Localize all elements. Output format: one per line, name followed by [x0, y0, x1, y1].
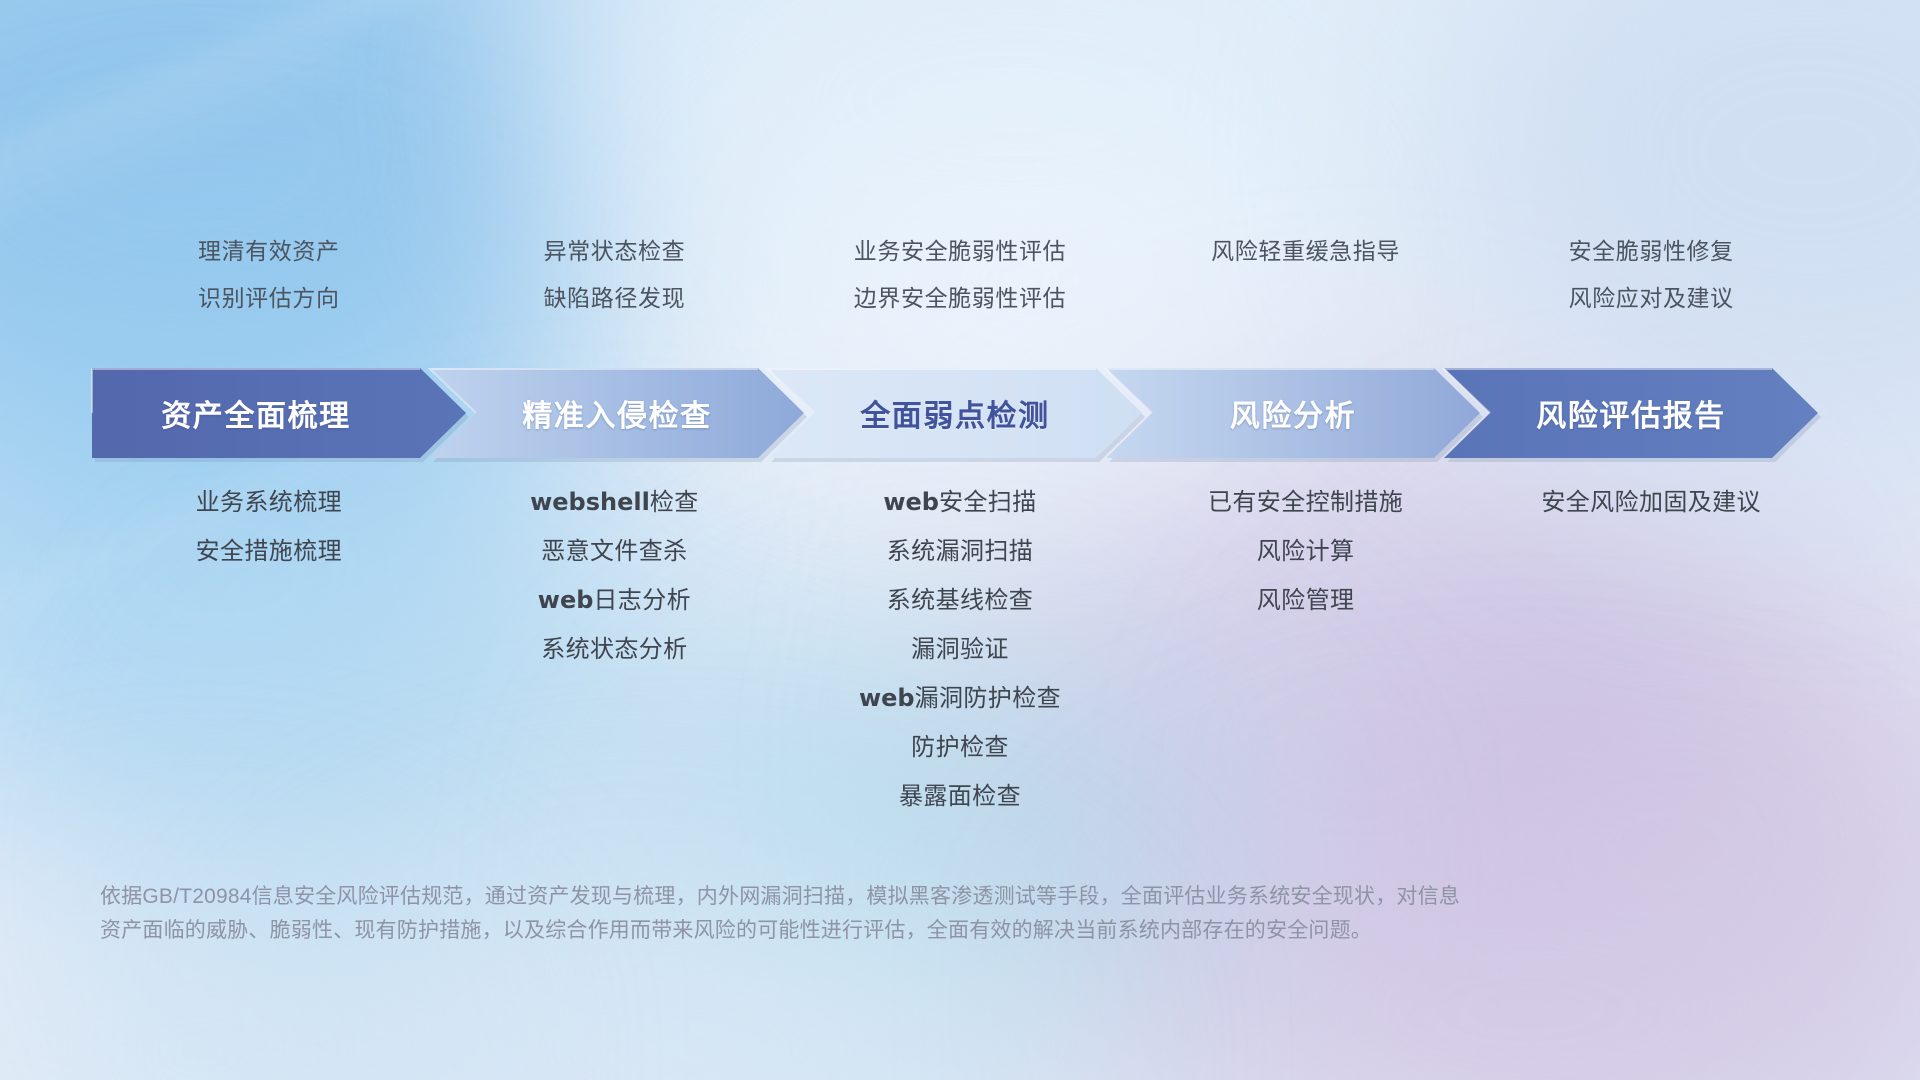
note-text-fragment: 风险管理: [1257, 587, 1355, 614]
stage-top-notes-asset-inventory: 理清有效资产识别评估方向: [96, 228, 442, 322]
note-line: 风险轻重缓急指导: [1133, 228, 1479, 275]
note-line: 安全脆弱性修复: [1478, 228, 1824, 275]
stage-bottom-notes-weakness-detection: web安全扫描系统漏洞扫描系统基线检查漏洞验证web漏洞防护检查防护检查暴露面检…: [787, 478, 1133, 821]
note-line: 安全风险加固及建议: [1478, 478, 1824, 527]
footer-line-2: 资产面临的威胁、脆弱性、现有防护措施，以及综合作用而带来风险的可能性进行评估，全…: [100, 914, 1640, 948]
note-line: 业务安全脆弱性评估: [787, 228, 1133, 275]
note-line: 风险管理: [1133, 576, 1479, 625]
footer-description: 依据GB/T20984信息安全风险评估规范，通过资产发现与梳理，内外网漏洞扫描，…: [100, 880, 1640, 948]
note-line: 恶意文件查杀: [442, 527, 788, 576]
note-text-fragment: 检查: [650, 489, 699, 516]
slide-content: 理清有效资产识别评估方向异常状态检查缺陷路径发现业务安全脆弱性评估边界安全脆弱性…: [0, 0, 1920, 1080]
note-line: 异常状态检查: [442, 228, 788, 275]
note-latin-fragment: web: [883, 488, 939, 516]
arrow-label-asset-inventory[interactable]: 资产全面梳理: [92, 368, 420, 458]
footer-line-1: 依据GB/T20984信息安全风险评估规范，通过资产发现与梳理，内外网漏洞扫描，…: [100, 880, 1640, 914]
note-line: 识别评估方向: [96, 275, 442, 322]
note-line: webshell检查: [442, 478, 788, 527]
stage-top-notes-risk-analysis: 风险轻重缓急指导: [1133, 228, 1479, 275]
note-text-fragment: 系统基线检查: [887, 587, 1033, 614]
note-latin-fragment: web: [538, 586, 594, 614]
note-latin-fragment: web: [859, 684, 915, 712]
stage-bottom-notes-risk-analysis: 已有安全控制措施风险计算风险管理: [1133, 478, 1479, 625]
note-line: 边界安全脆弱性评估: [787, 275, 1133, 322]
arrow-label-intrusion-check[interactable]: 精准入侵检查: [453, 368, 781, 458]
note-text-fragment: 安全措施梳理: [196, 538, 342, 565]
note-line: 漏洞验证: [787, 625, 1133, 674]
note-text-fragment: 防护检查: [911, 734, 1009, 761]
note-text-fragment: 业务系统梳理: [196, 489, 342, 516]
note-line: 系统基线检查: [787, 576, 1133, 625]
note-line: 已有安全控制措施: [1133, 478, 1479, 527]
process-arrow-banner: 资产全面梳理精准入侵检查全面弱点检测风险分析风险评估报告: [92, 368, 1828, 458]
stage-top-notes-assessment-report: 安全脆弱性修复风险应对及建议: [1478, 228, 1824, 322]
slide-canvas: 理清有效资产识别评估方向异常状态检查缺陷路径发现业务安全脆弱性评估边界安全脆弱性…: [0, 0, 1920, 1080]
note-text-fragment: 安全扫描: [939, 489, 1037, 516]
note-text-fragment: 系统漏洞扫描: [887, 538, 1033, 565]
arrow-label-weakness-detection[interactable]: 全面弱点检测: [791, 368, 1119, 458]
note-line: 理清有效资产: [96, 228, 442, 275]
note-line: 安全措施梳理: [96, 527, 442, 576]
note-line: 业务系统梳理: [96, 478, 442, 527]
arrow-label-risk-analysis[interactable]: 风险分析: [1129, 368, 1457, 458]
stage-bottom-notes-assessment-report: 安全风险加固及建议: [1478, 478, 1824, 527]
stage-bottom-notes-row: 业务系统梳理安全措施梳理webshell检查恶意文件查杀web日志分析系统状态分…: [96, 478, 1824, 821]
note-line: web漏洞防护检查: [787, 674, 1133, 723]
note-text-fragment: 恶意文件查杀: [541, 538, 687, 565]
stage-bottom-notes-asset-inventory: 业务系统梳理安全措施梳理: [96, 478, 442, 576]
note-line: 系统状态分析: [442, 625, 788, 674]
note-text-fragment: 暴露面检查: [899, 783, 1021, 810]
note-text-fragment: 风险计算: [1257, 538, 1355, 565]
note-line: 风险计算: [1133, 527, 1479, 576]
stage-top-notes-intrusion-check: 异常状态检查缺陷路径发现: [442, 228, 788, 322]
stage-bottom-notes-intrusion-check: webshell检查恶意文件查杀web日志分析系统状态分析: [442, 478, 788, 674]
note-text-fragment: 漏洞防护检查: [915, 685, 1061, 712]
note-text-fragment: 日志分析: [593, 587, 691, 614]
stage-top-notes-row: 理清有效资产识别评估方向异常状态检查缺陷路径发现业务安全脆弱性评估边界安全脆弱性…: [96, 228, 1824, 322]
note-line: 风险应对及建议: [1478, 275, 1824, 322]
note-line: 缺陷路径发现: [442, 275, 788, 322]
note-line: 系统漏洞扫描: [787, 527, 1133, 576]
note-text-fragment: 已有安全控制措施: [1208, 489, 1403, 516]
note-text-fragment: 漏洞验证: [911, 636, 1009, 663]
stage-top-notes-weakness-detection: 业务安全脆弱性评估边界安全脆弱性评估: [787, 228, 1133, 322]
note-text-fragment: 安全风险加固及建议: [1541, 489, 1761, 516]
note-line: web日志分析: [442, 576, 788, 625]
note-text-fragment: 系统状态分析: [541, 636, 687, 663]
note-line: 防护检查: [787, 723, 1133, 772]
note-line: web安全扫描: [787, 478, 1133, 527]
arrow-label-assessment-report[interactable]: 风险评估报告: [1467, 368, 1795, 458]
note-line: 暴露面检查: [787, 772, 1133, 821]
note-latin-fragment: webshell: [530, 488, 650, 516]
